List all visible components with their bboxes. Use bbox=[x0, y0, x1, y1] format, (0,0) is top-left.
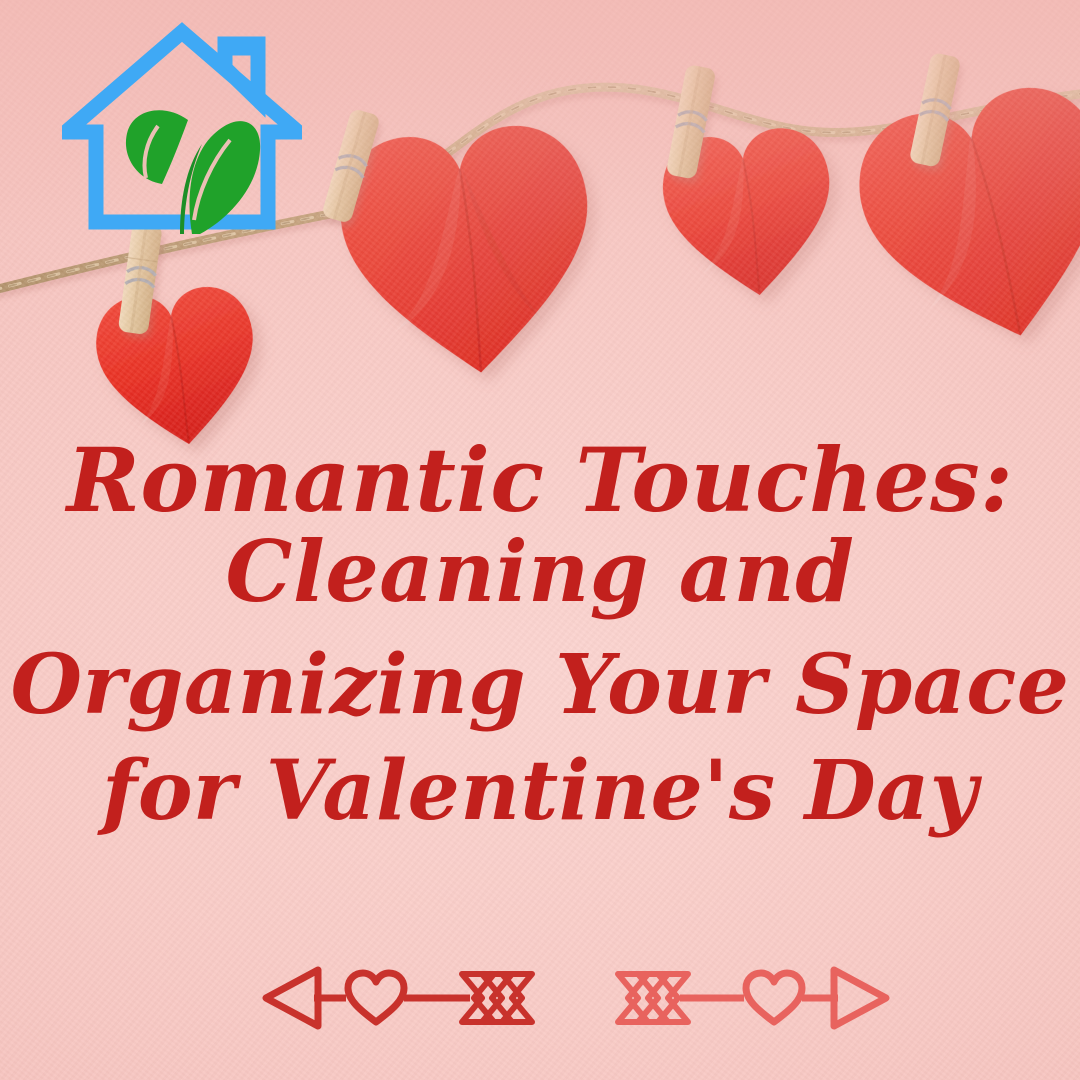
title-line-2: Cleaning and bbox=[0, 530, 1080, 614]
title-line-4: for Valentine's Day bbox=[0, 750, 1080, 832]
eco-house-logo-icon bbox=[62, 22, 302, 234]
title-block: Romantic Touches: Cleaning and Organizin… bbox=[0, 436, 1080, 832]
paper-heart-2 bbox=[333, 119, 604, 385]
heart-arrow-ornaments bbox=[0, 952, 1080, 1044]
heart-arrow-right bbox=[618, 970, 886, 1026]
title-line-1: Romantic Touches: bbox=[0, 436, 1080, 524]
title-line-3: Organizing Your Space bbox=[0, 644, 1080, 726]
heart-arrow-left bbox=[266, 970, 532, 1026]
brand-logo[interactable] bbox=[62, 22, 302, 234]
valentines-graphic-canvas: Romantic Touches: Cleaning and Organizin… bbox=[0, 0, 1080, 1080]
